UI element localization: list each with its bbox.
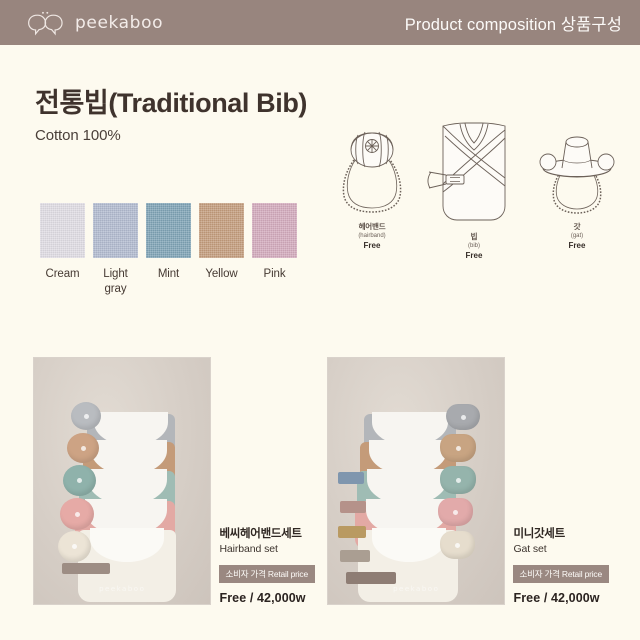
- swatch-label: Yellow: [205, 267, 237, 282]
- color-swatch[interactable]: Mint: [146, 203, 191, 296]
- photo-watermark: peekaboo: [99, 585, 145, 593]
- swatch-label: Light gray: [103, 267, 127, 296]
- illustration-name-en: (gat): [527, 232, 627, 240]
- product-photo-content: [328, 358, 504, 604]
- photo-watermark: peekaboo: [393, 585, 439, 593]
- product-info: 베씨헤어밴드세트 Hairband set 소비자 가격 Retail pric…: [219, 357, 315, 605]
- product-photo-content: [34, 358, 210, 604]
- brand-name: peekaboo: [75, 13, 163, 33]
- color-swatch-list: Cream Light gray Mint Yellow Pink: [40, 203, 297, 296]
- swatch-label: Mint: [158, 267, 179, 282]
- product-photo-gat-set[interactable]: peekaboo: [327, 357, 505, 605]
- title-block: 전통빕(Traditional Bib) Cotton 100%: [35, 88, 307, 144]
- product-price: Free / 42,000w: [513, 591, 609, 605]
- swatch-chip-pink[interactable]: [252, 203, 297, 258]
- pom-pink: [60, 498, 94, 530]
- product-name-en: Hairband set: [219, 543, 315, 555]
- gat-mint: [440, 466, 476, 494]
- product-photo-hairband-set[interactable]: peekaboo: [33, 357, 211, 605]
- product-name-ko: 미니갓세트: [513, 527, 609, 541]
- illustration-size: Free: [322, 241, 422, 250]
- gat-gray: [446, 404, 480, 430]
- retail-price-badge: 소비자 가격 Retail price: [513, 565, 609, 583]
- color-swatch[interactable]: Pink: [252, 203, 297, 296]
- pom-mint: [63, 465, 96, 496]
- product-card-list: peekaboo 베씨헤어밴드세트 Hairband set 소비자 가격 Re…: [33, 357, 609, 605]
- composition-illustrations: 헤어밴드 (hairband) Free: [322, 122, 627, 272]
- gat-cream: [440, 531, 475, 559]
- strap: [338, 472, 364, 484]
- strap: [340, 550, 370, 562]
- swatch-label: Pink: [264, 267, 286, 282]
- illustration-size: Free: [527, 241, 627, 250]
- illustration-name-ko: 헤어밴드: [322, 222, 422, 232]
- color-swatch[interactable]: Cream: [40, 203, 85, 296]
- gat-tan: [440, 434, 476, 462]
- swatch-chip-light-gray[interactable]: [93, 203, 138, 258]
- product-composition-page: peekaboo Product composition 상품구성 전통빕(Tr…: [0, 0, 640, 640]
- pom-cream: [58, 531, 91, 562]
- brand-logo[interactable]: peekaboo: [26, 10, 163, 36]
- product-name-ko: 베씨헤어밴드세트: [219, 527, 315, 541]
- hairband-illustration: [322, 124, 422, 222]
- header-title: Product composition 상품구성: [405, 11, 622, 35]
- peekaboo-logo-icon: [26, 10, 66, 36]
- gat-illustration: [527, 126, 627, 222]
- illustration-size: Free: [415, 251, 533, 260]
- swatch-chip-cream[interactable]: [40, 203, 85, 258]
- illustration-gat: 갓 (gat) Free: [527, 126, 627, 250]
- pom-tan: [67, 433, 99, 463]
- product-price: Free / 42,000w: [219, 591, 315, 605]
- page-subtitle: Cotton 100%: [35, 127, 307, 144]
- strap: [338, 526, 366, 538]
- illustration-name-en: (hairband): [322, 232, 422, 240]
- strap: [346, 572, 396, 584]
- swatch-label: Cream: [45, 267, 79, 282]
- product-info: 미니갓세트 Gat set 소비자 가격 Retail price Free /…: [513, 357, 609, 605]
- pom-gray: [71, 402, 101, 430]
- gat-pink: [438, 498, 473, 526]
- product-name-en: Gat set: [513, 543, 609, 555]
- page-header: peekaboo Product composition 상품구성: [0, 0, 640, 45]
- illustration-hairband: 헤어밴드 (hairband) Free: [322, 124, 422, 250]
- illustration-name-ko: 빕: [415, 232, 533, 242]
- swatch-chip-mint[interactable]: [146, 203, 191, 258]
- color-swatch[interactable]: Yellow: [199, 203, 244, 296]
- bib-illustration: [415, 120, 533, 232]
- retail-price-badge: 소비자 가격 Retail price: [219, 565, 315, 583]
- illustration-name-ko: 갓: [527, 222, 627, 232]
- color-swatch[interactable]: Light gray: [93, 203, 138, 296]
- illustration-name-en: (bib): [415, 242, 533, 250]
- strap: [340, 501, 366, 513]
- swatch-chip-yellow[interactable]: [199, 203, 244, 258]
- illustration-bib: 빕 (bib) Free: [415, 120, 533, 260]
- product-card[interactable]: peekaboo 미니갓세트 Gat set 소비자 가격 Retail pri…: [327, 357, 609, 605]
- product-card[interactable]: peekaboo 베씨헤어밴드세트 Hairband set 소비자 가격 Re…: [33, 357, 315, 605]
- page-title: 전통빕(Traditional Bib): [35, 88, 307, 118]
